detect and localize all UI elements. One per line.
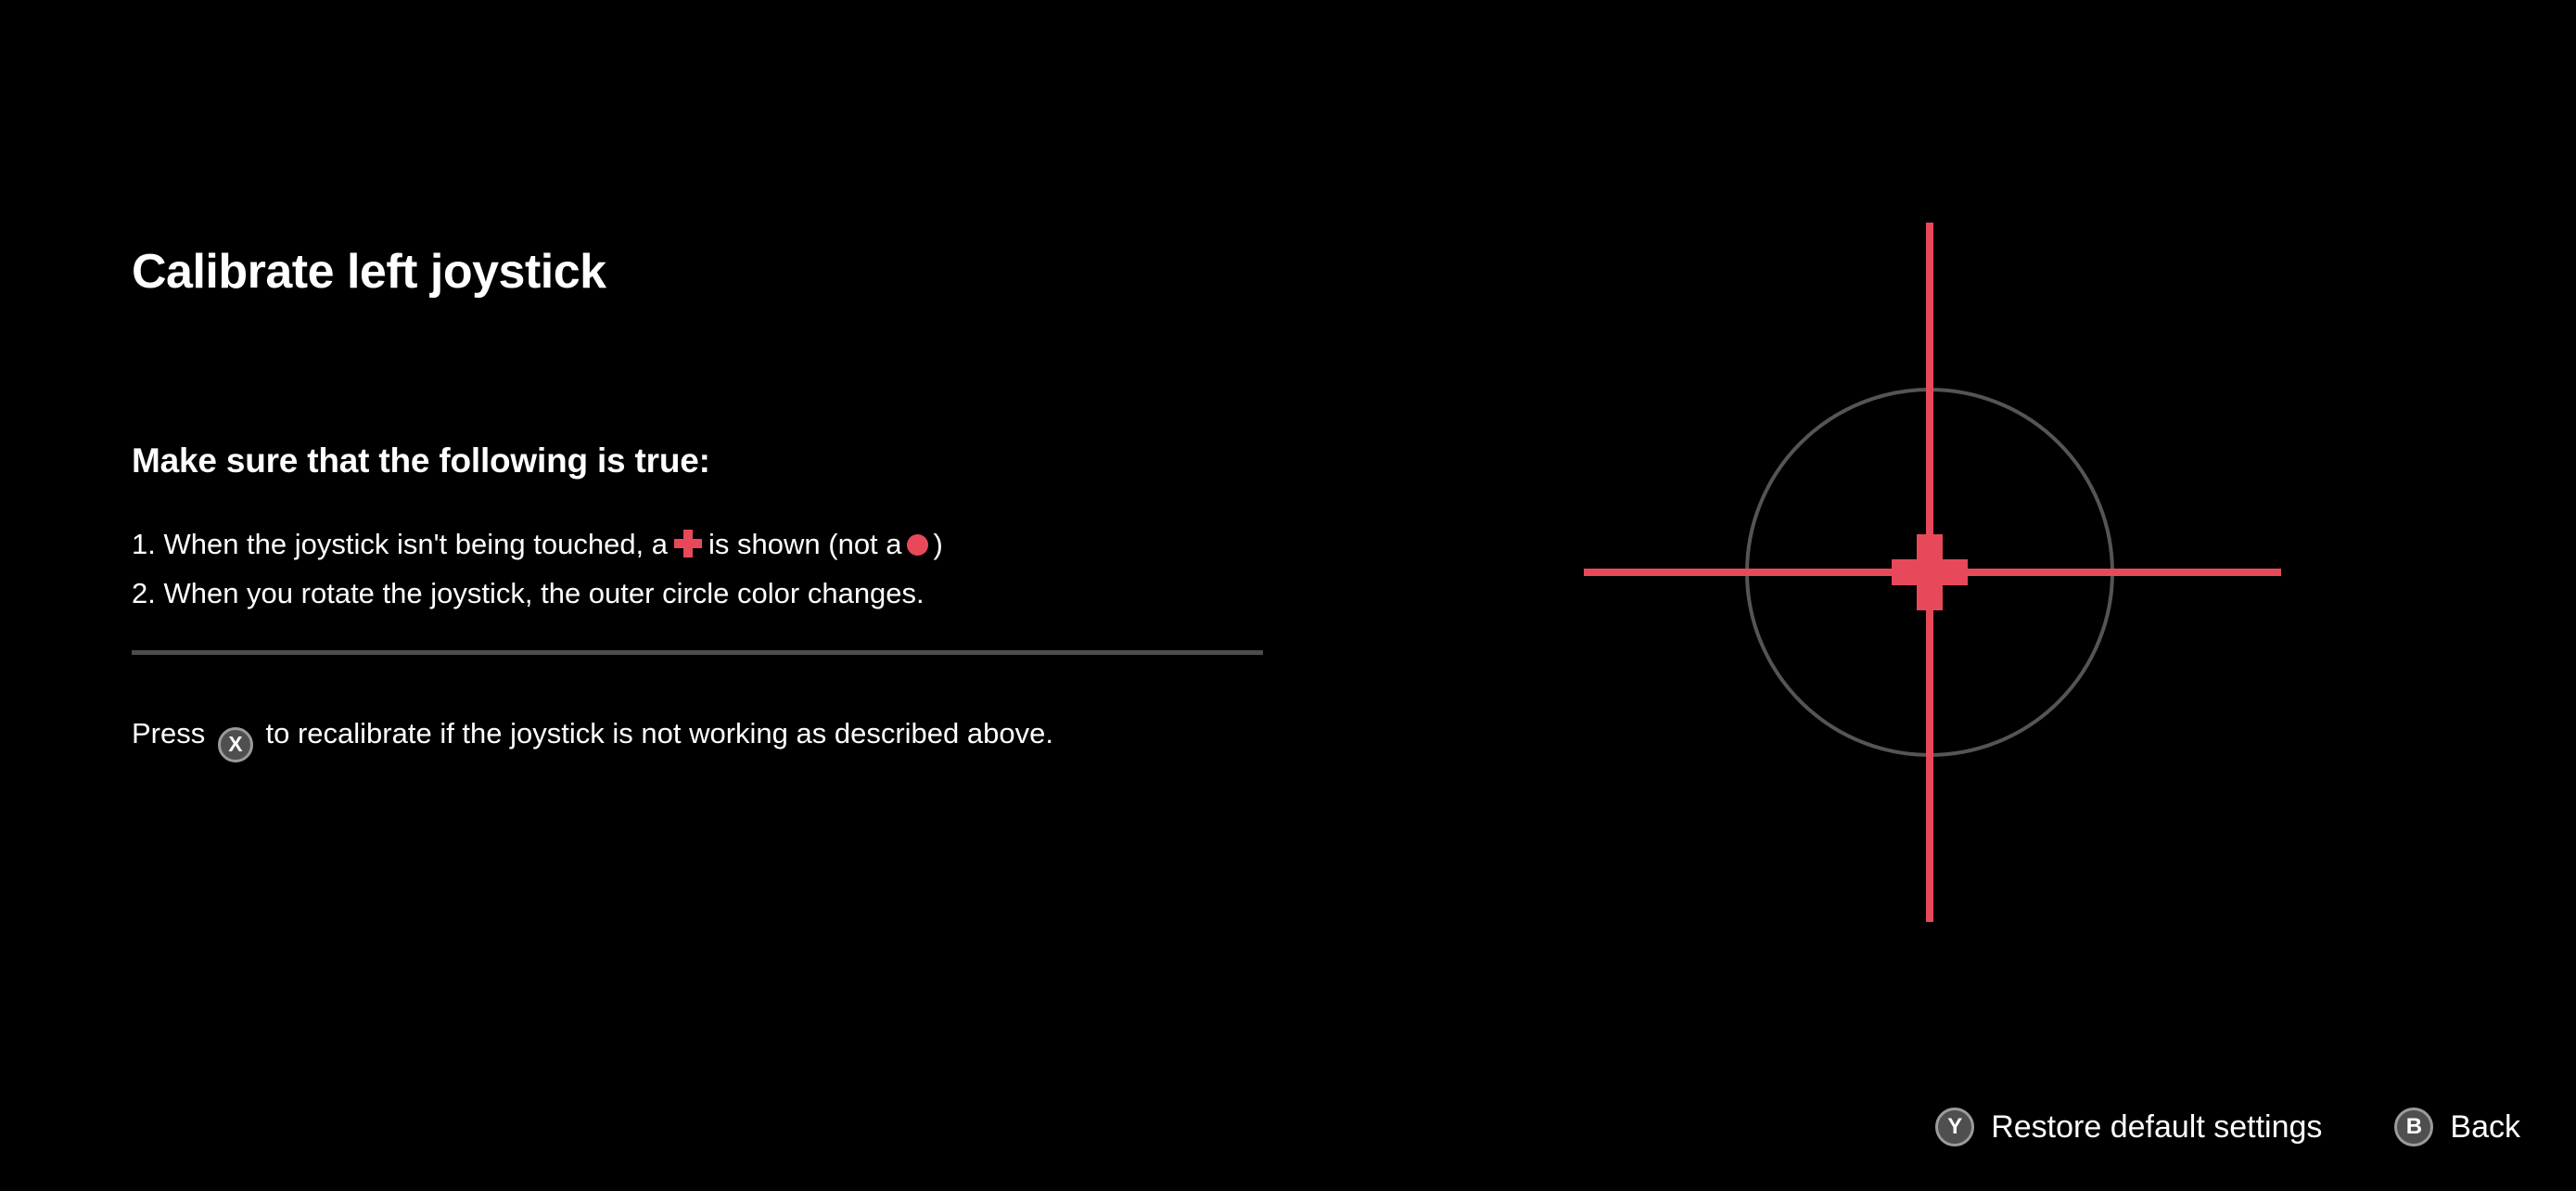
b-button-badge[interactable]: B [2394,1108,2433,1146]
x-button-badge[interactable]: X [218,727,253,762]
list-item: 1. When the joystick isn't being touched… [132,519,1374,569]
joystick-position-marker [1892,534,1968,610]
instruction-1-text-before: 1. When the joystick isn't being touched… [132,528,668,560]
restore-defaults-label: Restore default settings [1991,1111,2322,1143]
plus-icon [674,530,702,557]
recalibrate-prefix: Press [132,717,205,749]
back-label: Back [2450,1111,2520,1143]
instructions-list: 1. When the joystick isn't being touched… [132,519,1374,618]
joystick-visualizer [1547,189,2313,955]
dot-icon [907,534,928,556]
back-hint[interactable]: B Back [2394,1108,2520,1146]
list-item: 2. When you rotate the joystick, the out… [132,569,1374,618]
instructions-heading: Make sure that the following is true: [132,443,710,478]
section-divider [132,650,1263,655]
y-button-badge[interactable]: Y [1935,1108,1974,1146]
footer-hints: Y Restore default settings B Back [1935,1108,2520,1146]
joystick-diagram [1547,189,2313,955]
instruction-panel: Calibrate left joystick Make sure that t… [132,0,1430,1191]
recalibrate-note: Press X to recalibrate if the joystick i… [132,719,1053,762]
recalibrate-suffix: to recalibrate if the joystick is not wo… [266,717,1053,749]
instruction-1-text-after: ) [934,528,943,560]
page-title: Calibrate left joystick [132,248,606,296]
instruction-1-text-between: is shown (not a [708,528,902,560]
restore-defaults-hint[interactable]: Y Restore default settings [1935,1108,2322,1146]
